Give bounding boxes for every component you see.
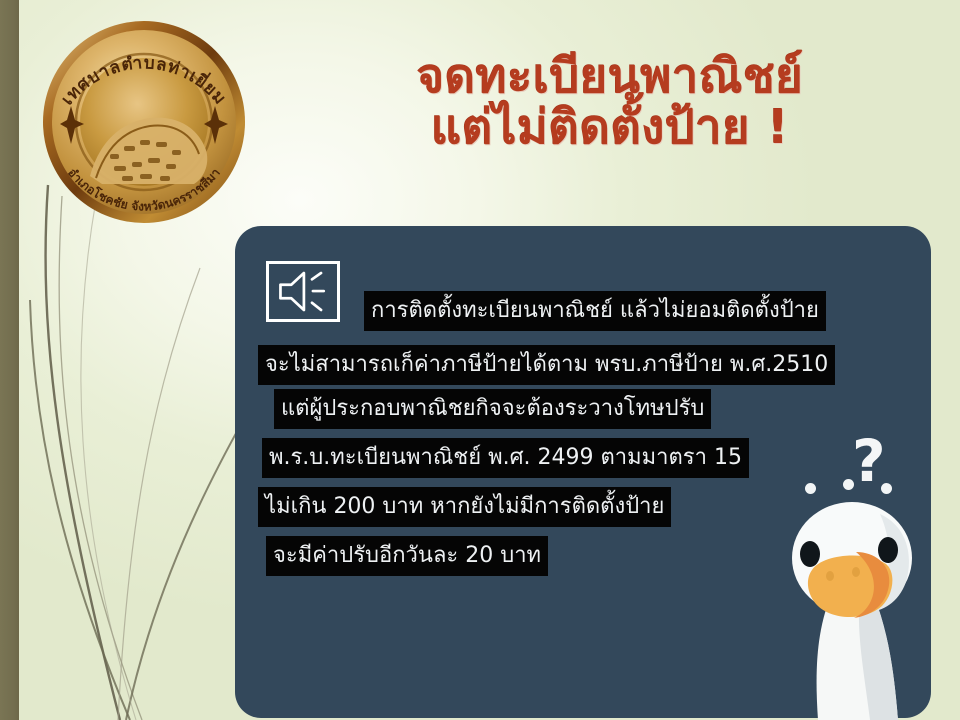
body-text-line-2: จะไม่สามารถเก็ค่าภาษีป้ายได้ตาม พรบ.ภาษี… xyxy=(258,345,835,385)
goose-mascot xyxy=(748,492,960,720)
municipal-seal-emblem: เทศบาลตำบลท่าเยี่ยม อำเภอโชคชัย จังหวัดน… xyxy=(18,8,270,223)
speaker-sound-icon xyxy=(266,261,340,322)
slide-canvas: เทศบาลตำบลท่าเยี่ยม อำเภอโชคชัย จังหวัดน… xyxy=(0,0,960,720)
title-line-2: แต่ไม่ติดตั้งป้าย ! xyxy=(300,103,920,154)
left-edge-band xyxy=(0,0,19,720)
goose-eye-left xyxy=(800,541,820,567)
body-text-line-5: ไม่เกิน 200 บาท หากยังไม่มีการติดตั้งป้า… xyxy=(258,487,671,527)
body-text-line-3: แต่ผู้ประกอบพาณิชยกิจจะต้องระวางโทษปรับ xyxy=(274,389,711,429)
question-mark-glyph: ? xyxy=(852,432,886,490)
thought-dot-2 xyxy=(843,479,854,490)
body-text-line-1: การติดตั้งทะเบียนพาณิชย์ แล้วไม่ยอมติดตั… xyxy=(364,291,826,331)
body-text-line-6: จะมีค่าปรับอีกวันละ 20 บาท xyxy=(266,536,548,576)
title-line-1: จดทะเบียนพาณิชย์ xyxy=(300,52,920,103)
body-text-line-4: พ.ร.บ.ทะเบียนพาณิชย์ พ.ศ. 2499 ตามมาตรา … xyxy=(262,438,749,478)
goose-eye-right xyxy=(878,537,898,563)
page-title: จดทะเบียนพาณิชย์ แต่ไม่ติดตั้งป้าย ! xyxy=(300,52,920,154)
